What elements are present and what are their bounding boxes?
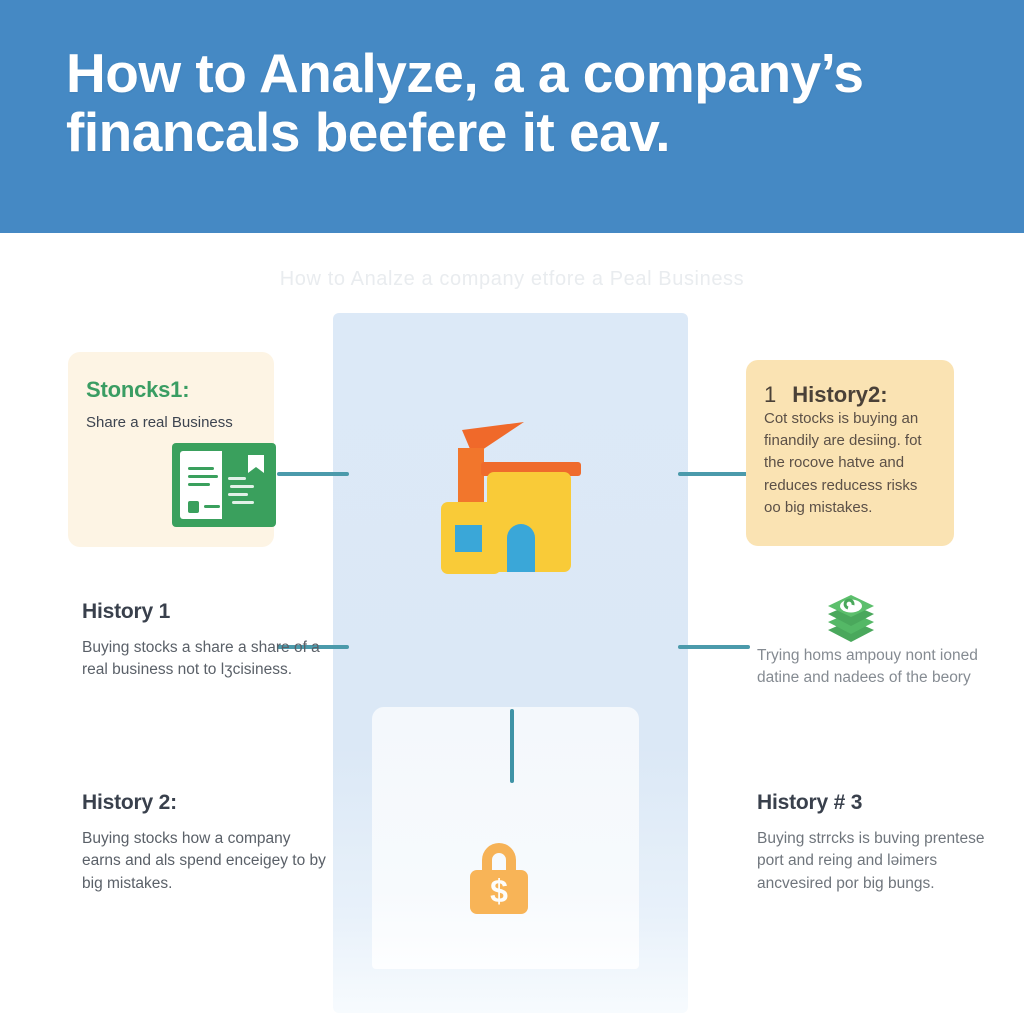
page-title: How to Analyze, a a company’s financals …: [66, 44, 986, 162]
card-top-right-body: Cot stocks is buying an finandily are de…: [764, 408, 938, 519]
card-top-right-title: 1History2:: [764, 382, 954, 408]
card-top-right-number: 1: [764, 382, 776, 407]
block-bottom-right-title: History # 3: [757, 791, 1007, 815]
block-bottom-left-title: History 2:: [82, 791, 332, 815]
green-certificate-icon: [172, 443, 276, 527]
svg-text:$: $: [490, 873, 508, 909]
card-top-right-title-text: History2:: [792, 382, 887, 407]
block-mid-left: History 1 Buying stocks a share a share …: [82, 600, 332, 682]
card-top-left-title: Stoncks1:: [86, 377, 274, 403]
block-mid-right: Trying homs ampouy nont ioned datine and…: [757, 645, 1007, 690]
block-bottom-left: History 2: Buying stocks how a company e…: [82, 791, 332, 895]
subtitle: How to Analze a company etfore a Peal Bu…: [0, 268, 1024, 291]
title-line-1: How to Analyze, a a company’s: [66, 44, 986, 103]
connector-top-right: [678, 472, 750, 476]
connector-mid-right: [678, 645, 750, 649]
block-mid-left-body: Buying stocks a share a share of a real …: [82, 637, 332, 682]
block-mid-right-body: Trying homs ampouy nont ioned datine and…: [757, 645, 1007, 690]
block-bottom-right: History # 3 Buying strrcks is buving pre…: [757, 791, 1007, 895]
block-bottom-right-body: Buying strrcks is buving prentese port a…: [757, 828, 1007, 895]
connector-top-left: [277, 472, 349, 476]
card-top-right[interactable]: 1History2: Cot stocks is buying an finan…: [746, 360, 954, 546]
infographic-page: How to Analyze, a a company’s financals …: [0, 0, 1024, 1024]
title-line-2: financals beefere it eav.: [66, 103, 986, 162]
cash-stack-icon: [822, 590, 880, 648]
block-mid-left-title: History 1: [82, 600, 332, 624]
dollar-padlock-icon: $: [456, 832, 542, 918]
header-band: How to Analyze, a a company’s financals …: [0, 0, 1024, 233]
factory-building-icon: [429, 420, 589, 585]
connector-vertical-center: [510, 709, 514, 783]
card-top-left-subtitle: Share a real Business: [86, 414, 274, 431]
block-bottom-left-body: Buying stocks how a company earns and al…: [82, 828, 332, 895]
